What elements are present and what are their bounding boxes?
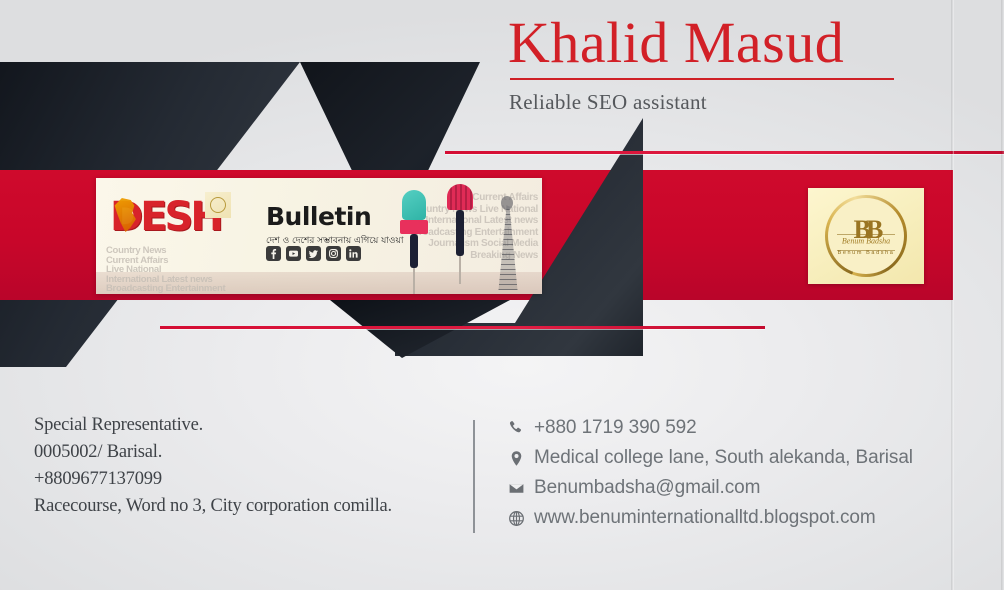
contact-list: +880 1719 390 592 Medical college lane, … [508, 413, 913, 533]
logo-gold-ring: BB Benum Badsha Benum Badsha [825, 195, 907, 277]
linkedin-icon [346, 246, 361, 261]
left-info-line-3: +8809677137099 [34, 466, 392, 493]
phone-icon [508, 420, 534, 437]
desh-bulletin-banner: Current AffairsCountry News Live Nationa… [96, 178, 542, 294]
contact-value-address: Medical college lane, South alekanda, Ba… [534, 447, 913, 469]
person-name: Khalid Masud [508, 14, 844, 72]
red-rule-top [445, 151, 1004, 154]
logo-caption: Benum Badsha [838, 250, 895, 256]
youtube-icon [286, 246, 301, 261]
logo-script-text: Benum Badsha [842, 236, 890, 245]
company-logo-plate: BB Benum Badsha Benum Badsha [808, 188, 924, 284]
contact-row-address[interactable]: Medical college lane, South alekanda, Ba… [508, 443, 913, 473]
card-right-edge [951, 0, 954, 590]
banner-background-words-left: Country NewsCurrent AffairsLive National… [106, 246, 225, 294]
contact-value-phone: +880 1719 390 592 [534, 417, 697, 439]
left-info-line-4: Racecourse, Word no 3, City corporation … [34, 493, 392, 520]
banner-social-icons [266, 246, 361, 261]
envelope-icon [508, 480, 534, 497]
contact-row-website[interactable]: www.benuminternationalltd.blogspot.com [508, 503, 913, 533]
location-pin-icon [508, 450, 534, 467]
teal-microphone [402, 190, 426, 282]
red-microphone [447, 184, 473, 282]
banner-brand-bulletin: Bulletin [266, 202, 371, 231]
contact-value-website: www.benuminternationalltd.blogspot.com [534, 507, 876, 529]
banner-seal-icon [205, 192, 231, 218]
contact-value-email: Benumbadsha@gmail.com [534, 477, 760, 499]
left-info-line-2: 0005002/ Barisal. [34, 439, 392, 466]
instagram-icon [326, 246, 341, 261]
person-tagline: Reliable SEO assistant [509, 90, 707, 115]
left-info-line-1: Special Representative. [34, 412, 392, 439]
business-card: Current AffairsCountry News Live Nationa… [0, 0, 1004, 590]
facebook-icon [266, 246, 281, 261]
contact-row-email[interactable]: Benumbadsha@gmail.com [508, 473, 913, 503]
info-divider [473, 420, 475, 533]
left-info-block: Special Representative. 0005002/ Barisal… [34, 412, 392, 520]
name-underline [510, 78, 894, 80]
twitter-icon [306, 246, 321, 261]
banner-background-words-right: Current AffairsCountry News Live Nationa… [412, 192, 538, 261]
red-rule-bottom [160, 326, 765, 329]
globe-icon [508, 510, 534, 527]
contact-row-phone[interactable]: +880 1719 390 592 [508, 413, 913, 443]
